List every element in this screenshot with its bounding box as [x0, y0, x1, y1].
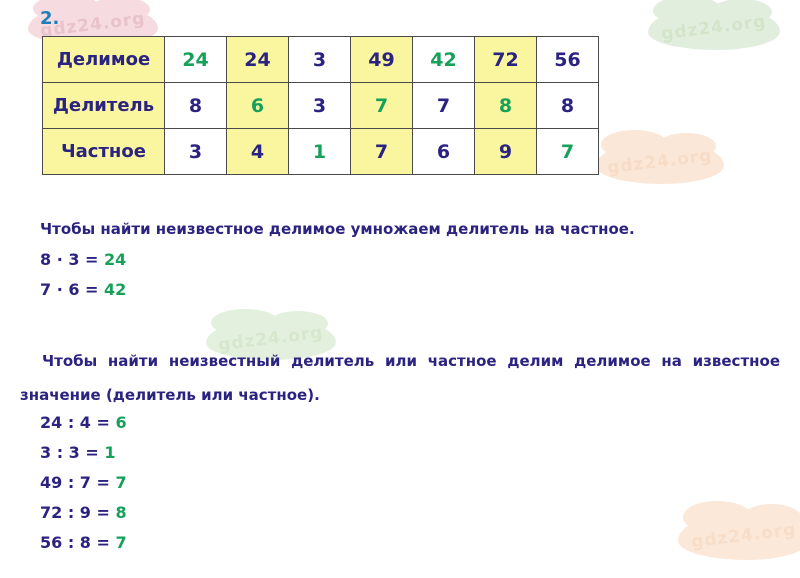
equation-line: 56 : 8 = 7	[40, 528, 127, 558]
table-cell-r0-c6[interactable]: 56	[537, 37, 599, 83]
equation-result: 7	[115, 533, 126, 552]
table-cell-r2-c3[interactable]: 7	[351, 129, 413, 175]
equation-result: 42	[104, 280, 126, 299]
equation-result: 24	[104, 250, 126, 269]
rule-dividend-text: Чтобы найти неизвестное делимое умножаем…	[40, 212, 740, 246]
equation-result: 6	[115, 413, 126, 432]
task-number: 2.	[40, 8, 59, 29]
equation-result: 1	[104, 443, 115, 462]
equation-expression: 49 : 7 =	[40, 473, 115, 492]
table-cell-r0-c4[interactable]: 42	[413, 37, 475, 83]
division-table: Делимое2424349427256Делитель8637788Частн…	[42, 36, 599, 175]
row-label-1: Делитель	[43, 83, 165, 129]
table-cell-r1-c3[interactable]: 7	[351, 83, 413, 129]
row-label-0: Делимое	[43, 37, 165, 83]
table-cell-r0-c3[interactable]: 49	[351, 37, 413, 83]
table-cell-r2-c1[interactable]: 4	[227, 129, 289, 175]
table-row: Частное3417697	[43, 129, 599, 175]
table-cell-r2-c0[interactable]: 3	[165, 129, 227, 175]
equation-expression: 7 · 6 =	[40, 280, 104, 299]
equation-line: 8 · 3 = 24	[40, 245, 126, 275]
table-cell-r1-c2[interactable]: 3	[289, 83, 351, 129]
equation-expression: 24 : 4 =	[40, 413, 115, 432]
table-cell-r2-c6[interactable]: 7	[537, 129, 599, 175]
division-table-body: Делимое2424349427256Делитель8637788Частн…	[43, 37, 599, 175]
table-cell-r1-c1[interactable]: 6	[227, 83, 289, 129]
table-cell-r1-c6[interactable]: 8	[537, 83, 599, 129]
table-cell-r2-c5[interactable]: 9	[475, 129, 537, 175]
table-row: Делитель8637788	[43, 83, 599, 129]
division-table-container: Делимое2424349427256Делитель8637788Частн…	[42, 36, 599, 175]
rule-dividend-equations: 8 · 3 = 247 · 6 = 42	[40, 245, 126, 305]
equation-line: 3 : 3 = 1	[40, 438, 127, 468]
equation-expression: 8 · 3 =	[40, 250, 104, 269]
table-cell-r1-c0[interactable]: 8	[165, 83, 227, 129]
rule-divisor-text: Чтобы найти неизвестный делитель или час…	[20, 344, 780, 412]
table-cell-r2-c4[interactable]: 6	[413, 129, 475, 175]
equation-line: 72 : 9 = 8	[40, 498, 127, 528]
table-row: Делимое2424349427256	[43, 37, 599, 83]
table-cell-r2-c2[interactable]: 1	[289, 129, 351, 175]
equation-result: 8	[115, 503, 126, 522]
exercise-page: 2. Делимое2424349427256Делитель8637788Ча…	[0, 0, 800, 578]
equation-result: 7	[115, 473, 126, 492]
equation-expression: 72 : 9 =	[40, 503, 115, 522]
equation-expression: 56 : 8 =	[40, 533, 115, 552]
equation-line: 24 : 4 = 6	[40, 408, 127, 438]
table-cell-r0-c0[interactable]: 24	[165, 37, 227, 83]
table-cell-r1-c5[interactable]: 8	[475, 83, 537, 129]
table-cell-r0-c1[interactable]: 24	[227, 37, 289, 83]
table-cell-r0-c2[interactable]: 3	[289, 37, 351, 83]
equation-line: 7 · 6 = 42	[40, 275, 126, 305]
table-cell-r1-c4[interactable]: 7	[413, 83, 475, 129]
table-cell-r0-c5[interactable]: 72	[475, 37, 537, 83]
row-label-2: Частное	[43, 129, 165, 175]
equation-line: 49 : 7 = 7	[40, 468, 127, 498]
equation-expression: 3 : 3 =	[40, 443, 104, 462]
rule-divisor-equations: 24 : 4 = 63 : 3 = 149 : 7 = 772 : 9 = 85…	[40, 408, 127, 558]
